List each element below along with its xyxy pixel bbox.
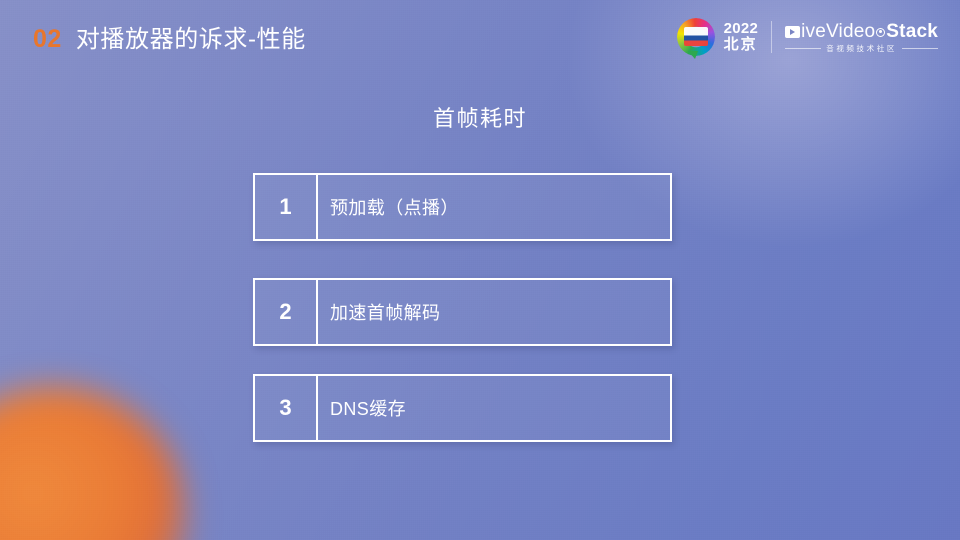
logo-lockup: 2022 北京 ive Video Stack 音视频技术社区 bbox=[677, 17, 938, 57]
brand-video-text: Video bbox=[826, 22, 875, 41]
brand-subtitle: 音视频技术社区 bbox=[826, 45, 897, 53]
event-year-city: 2022 北京 bbox=[724, 21, 759, 53]
section-heading: 首帧耗时 bbox=[0, 101, 960, 133]
title-group: 02 对播放器的诉求-性能 bbox=[33, 19, 306, 54]
brand-subtitle-row: 音视频技术社区 bbox=[785, 45, 938, 53]
brand-wordmark: ive Video Stack bbox=[785, 22, 938, 41]
step-index: 1 bbox=[255, 175, 318, 239]
event-city: 北京 bbox=[724, 37, 759, 53]
step-label: 加速首帧解码 bbox=[318, 280, 670, 344]
page-title: 对播放器的诉求-性能 bbox=[76, 19, 306, 54]
logo-divider bbox=[771, 21, 772, 53]
play-badge-icon bbox=[785, 26, 800, 38]
slide-number: 02 bbox=[33, 25, 62, 54]
subtitle-rule-right bbox=[902, 48, 938, 49]
orange-gradient-blob bbox=[0, 387, 187, 540]
subtitle-rule-left bbox=[785, 48, 821, 49]
event-year: 2022 bbox=[724, 21, 759, 37]
brand-block: ive Video Stack 音视频技术社区 bbox=[785, 22, 938, 53]
brand-live-text: ive bbox=[801, 22, 826, 41]
step-box[interactable]: 2 加速首帧解码 bbox=[253, 278, 672, 346]
step-index: 3 bbox=[255, 376, 318, 440]
livevideostack-ring-icon bbox=[677, 18, 715, 56]
ring-inner-label-icon bbox=[684, 27, 708, 46]
step-box[interactable]: 1 预加载（点播） bbox=[253, 173, 672, 241]
slide-canvas: 02 对播放器的诉求-性能 2022 北京 ive Video S bbox=[0, 0, 960, 540]
brand-stack-text: Stack bbox=[886, 22, 938, 41]
slide-header: 02 对播放器的诉求-性能 2022 北京 ive Video S bbox=[0, 0, 960, 72]
ring-speech-tail-icon bbox=[688, 51, 698, 59]
step-index: 2 bbox=[255, 280, 318, 344]
step-label: DNS缓存 bbox=[318, 376, 670, 440]
step-box-list: 1 预加载（点播） 2 加速首帧解码 3 DNS缓存 bbox=[253, 173, 672, 442]
step-label: 预加载（点播） bbox=[318, 175, 670, 239]
record-dot-icon bbox=[876, 28, 885, 37]
step-box[interactable]: 3 DNS缓存 bbox=[253, 374, 672, 442]
